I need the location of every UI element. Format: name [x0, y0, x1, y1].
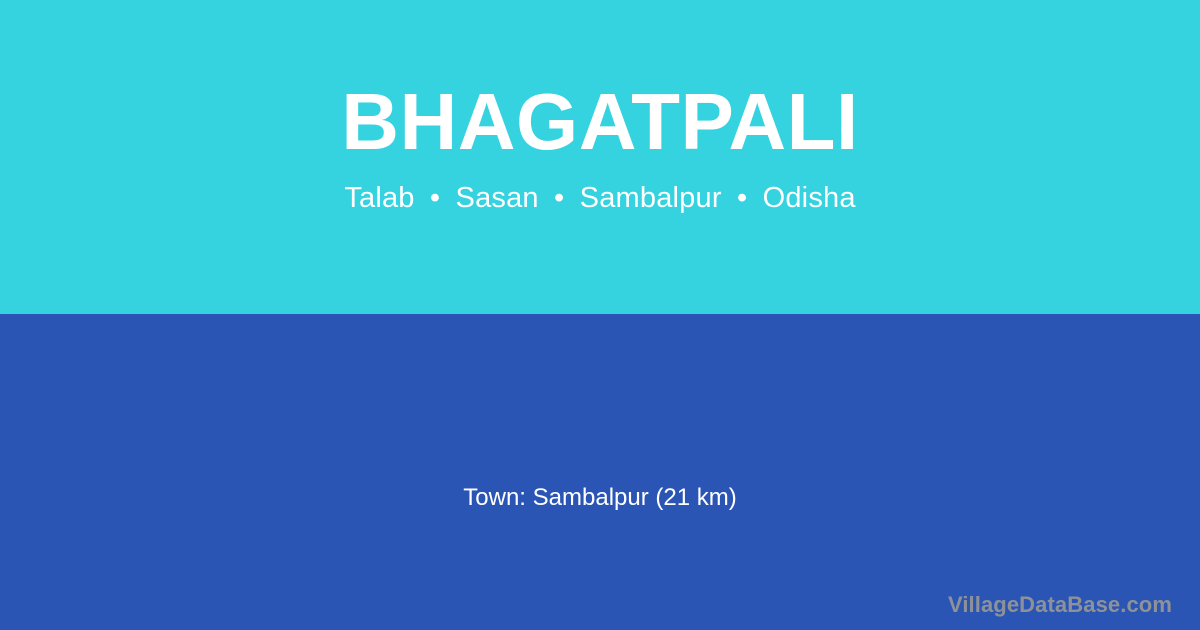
breadcrumb-item-state: Odisha — [763, 182, 856, 214]
village-info-card: BHAGATPALI Talab • Sasan • Sambalpur • O… — [0, 0, 1200, 630]
breadcrumb-item-panchayat: Talab — [344, 182, 414, 214]
nearest-town-label: Town: Sambalpur (21 km) — [0, 486, 1200, 510]
page-title: BHAGATPALI — [341, 82, 859, 162]
breadcrumb-item-block: Sasan — [456, 182, 539, 214]
site-watermark: VillageDataBase.com — [948, 594, 1172, 616]
breadcrumb-separator-icon: • — [423, 184, 447, 213]
hero-banner: BHAGATPALI Talab • Sasan • Sambalpur • O… — [0, 0, 1200, 314]
breadcrumb-separator-icon: • — [547, 184, 571, 213]
breadcrumb-separator-icon: • — [730, 184, 754, 213]
location-breadcrumb: Talab • Sasan • Sambalpur • Odisha — [344, 162, 855, 213]
breadcrumb-item-district: Sambalpur — [580, 182, 722, 214]
details-panel: Town: Sambalpur (21 km) VillageDataBase.… — [0, 314, 1200, 630]
